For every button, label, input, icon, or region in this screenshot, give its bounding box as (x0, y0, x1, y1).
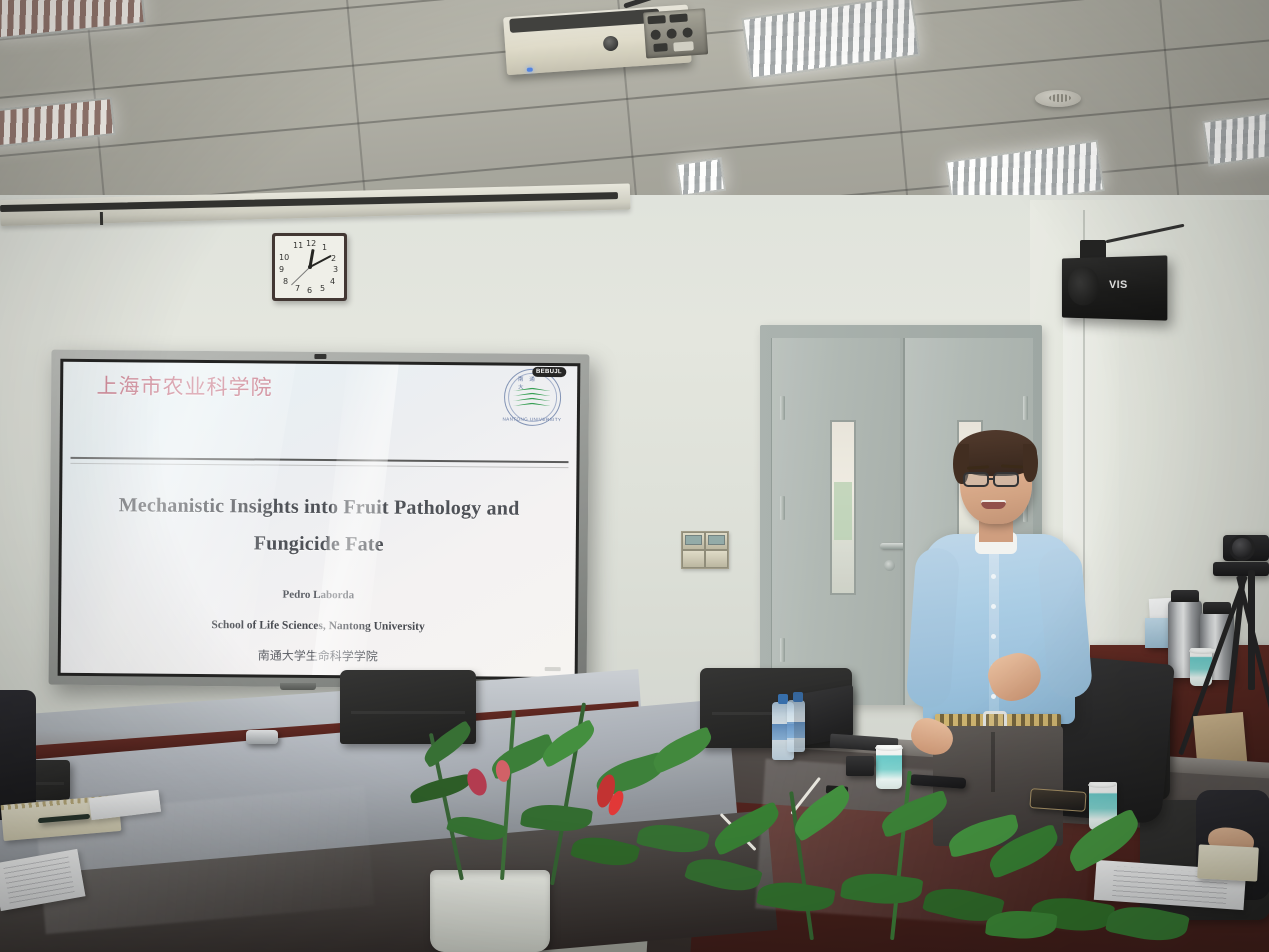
attendee-person (0, 690, 36, 820)
plant-leaf (419, 720, 477, 768)
display-corner-logo (545, 667, 561, 671)
display-camera-icon (314, 354, 326, 359)
palm-frond (890, 771, 912, 940)
logo-badge: BEBUJL (532, 367, 566, 377)
slide-header-chinese-title: 上海市农业科学院 (96, 370, 272, 402)
water-bottle (787, 700, 805, 752)
speaker-brand-label: VIS (1109, 279, 1128, 291)
potted-palm (690, 760, 1020, 952)
presenter-mouth (981, 500, 1006, 509)
rail-hook (100, 212, 103, 225)
plant-leaf (984, 823, 1064, 879)
slide-body: Mechanistic Insights into Fruit Patholog… (61, 464, 577, 677)
plant-leaf (787, 784, 856, 842)
logo-chevron-icon (513, 388, 552, 408)
slide-affiliation-english: School of Life Sciences, Nantong Univers… (61, 617, 575, 633)
tripod-center-column (1248, 570, 1255, 690)
smartboard-control-button[interactable] (280, 683, 316, 690)
potted-plant (985, 815, 1175, 952)
slide-title-line-1: Mechanistic Insights into Fruit Patholog… (62, 486, 576, 527)
plant-leaf (985, 907, 1058, 942)
plant-leaf (756, 876, 836, 917)
eyeglasses-icon (993, 472, 1019, 487)
ac-control-panel[interactable] (681, 531, 729, 569)
smartboard-display[interactable]: 上海市农业科学院 南 通 大 NANTONG UNIVERSITY BEBUJL (49, 350, 590, 690)
notebook (1197, 844, 1259, 881)
red-flower (464, 766, 490, 798)
wall-clock: 12 1 2 3 4 5 6 7 8 9 10 11 (272, 233, 347, 301)
conference-room-photo: 12 1 2 3 4 5 6 7 8 9 10 11 (0, 0, 1269, 952)
plant-leaf (1062, 808, 1146, 873)
slide-affiliation-chinese: 南通大学生命科学学院 (61, 644, 575, 665)
display-bezel: 上海市农业科学院 南 通 大 NANTONG UNIVERSITY BEBUJL (58, 359, 581, 681)
plant-leaf (709, 801, 785, 856)
desk-nameplate (246, 730, 278, 744)
presenter-person (905, 432, 1105, 812)
nantong-university-logo: 南 通 大 NANTONG UNIVERSITY BEBUJL (503, 368, 560, 425)
clock-face: 12 1 2 3 4 5 6 7 8 9 10 11 (275, 236, 344, 298)
camera-lens-icon (1232, 538, 1252, 558)
smartphone[interactable] (1029, 788, 1086, 812)
camera-mount-plate (1213, 562, 1269, 576)
slide-header: 上海市农业科学院 南 通 大 NANTONG UNIVERSITY BEBUJL (63, 362, 578, 463)
slide-title: Mechanistic Insights into Fruit Patholog… (62, 486, 577, 564)
wall-speaker: VIS (1062, 255, 1167, 320)
plant-leaf (520, 800, 593, 835)
ceiling-light-fixture (676, 157, 726, 197)
clock-second-hand (290, 267, 309, 286)
door-lock-icon[interactable] (884, 560, 895, 571)
door-vision-panel (830, 420, 856, 595)
eyeglasses-icon (963, 472, 989, 487)
presentation-slide: 上海市农业科学院 南 通 大 NANTONG UNIVERSITY BEBUJL (61, 362, 578, 677)
plant-leaf (840, 868, 923, 909)
ceiling-projector (502, 0, 717, 89)
smoke-detector-icon (1035, 90, 1081, 107)
plant-leaf (877, 790, 952, 838)
plant-pot (430, 870, 550, 952)
door-left-leaf[interactable] (771, 338, 900, 705)
slide-author: Pedro Laborda (61, 586, 575, 602)
logo-english-text: NANTONG UNIVERSITY (502, 416, 561, 422)
slide-title-line-2: Fungicide Fate (62, 523, 576, 564)
plant-leaf (570, 831, 640, 872)
palm-frond (500, 710, 516, 880)
